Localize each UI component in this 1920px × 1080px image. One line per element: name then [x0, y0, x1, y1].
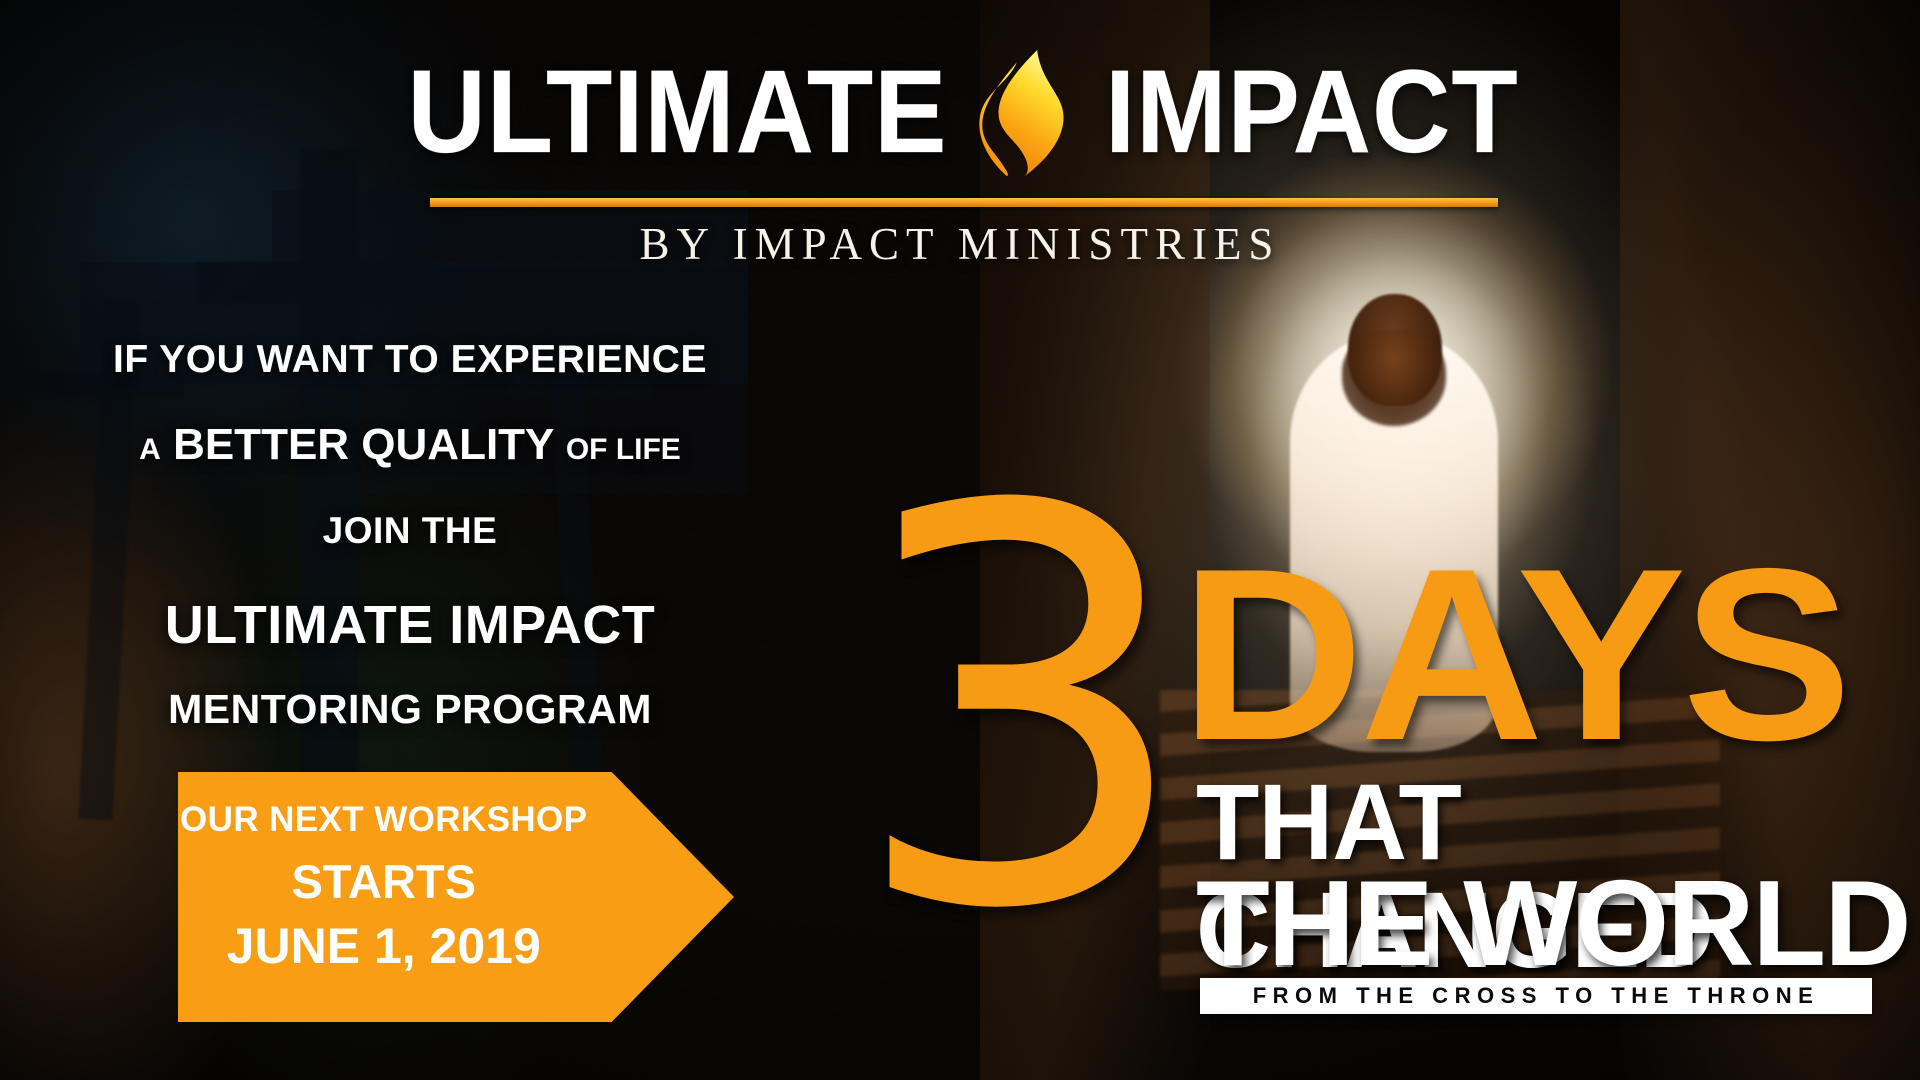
headline-the-world: THE WORLD: [1196, 862, 1909, 984]
promo-line-5: MENTORING PROGRAM: [60, 686, 760, 733]
brand-tagline: BY IMPACT MINISTRIES: [0, 218, 1920, 270]
promo-line-1: IF YOU WANT TO EXPERIENCE: [60, 338, 760, 382]
promo-line-2: A BETTER QUALITY OF LIFE: [60, 420, 760, 470]
promo-line-4: ULTIMATE IMPACT: [60, 594, 760, 656]
headline-days: DAYS: [1180, 554, 1848, 755]
brand-logo: ULTIMATE: [0, 48, 1920, 176]
workshop-banner-line-2: STARTS: [178, 854, 589, 909]
brand-word-impact: IMPACT: [1105, 53, 1519, 171]
brand-underline-rule: [430, 198, 1498, 207]
workshop-banner-date: JUNE 1, 2019: [178, 917, 589, 975]
headline-number-3: 3: [848, 498, 1195, 923]
brand-logo-row: ULTIMATE: [384, 48, 1536, 176]
promo-line-2-a: A: [139, 433, 161, 466]
flame-icon: [977, 48, 1081, 176]
workshop-banner-line-1: OUR NEXT WORKSHOP: [178, 800, 589, 840]
workshop-date-arrow-content: OUR NEXT WORKSHOP STARTS JUNE 1, 2019: [178, 772, 589, 975]
headline-subtitle-text: FROM THE CROSS TO THE THRONE: [1253, 983, 1820, 1009]
headline-subtitle-ribbon: FROM THE CROSS TO THE THRONE: [1200, 978, 1872, 1014]
promo-copy-block: IF YOU WANT TO EXPERIENCE A BETTER QUALI…: [60, 338, 760, 733]
promo-line-2-b: OF LIFE: [566, 433, 681, 466]
brand-word-ultimate: ULTIMATE: [407, 53, 947, 171]
promotional-poster: ULTIMATE: [0, 0, 1920, 1080]
promo-line-2-big: BETTER QUALITY: [173, 420, 554, 469]
promo-line-3: JOIN THE: [60, 510, 760, 552]
